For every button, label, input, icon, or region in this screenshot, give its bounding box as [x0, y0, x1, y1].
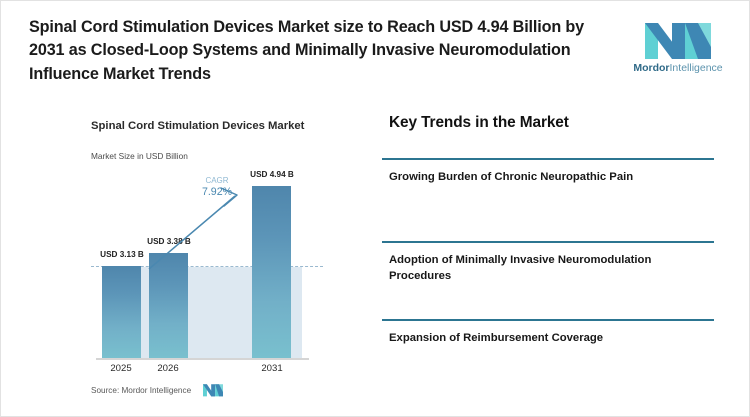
page-title: Spinal Cord Stimulation Devices Market s…: [29, 16, 604, 86]
chart-title: Spinal Cord Stimulation Devices Market: [91, 119, 321, 134]
cagr-annotation: CAGR 7.92%: [189, 176, 245, 199]
key-trends-heading: Key Trends in the Market: [389, 114, 569, 132]
trend-label-2: Adoption of Minimally Invasive Neuromodu…: [389, 252, 709, 284]
chart-source-note: Source: Mordor Intelligence: [91, 386, 191, 395]
chart-panel: Spinal Cord Stimulation Devices Market M…: [1, 101, 376, 417]
x-axis-tick-2031: 2031: [246, 363, 298, 374]
bar-chart-plot-area: USD 3.13 B USD 3.38 B USD 4.94 B 2025 20…: [91, 171, 341, 361]
trend-label-1: Growing Burden of Chronic Neuropathic Pa…: [389, 169, 709, 185]
cagr-label: CAGR: [189, 176, 245, 186]
logo-wordmark: MordorIntelligence: [623, 62, 733, 74]
chart-baseline-axis: [96, 358, 309, 360]
trend-divider-3: [382, 319, 714, 321]
trend-divider-1: [382, 158, 714, 160]
x-axis-tick-2025: 2025: [95, 363, 147, 374]
bar-2025[interactable]: [102, 266, 141, 358]
bar-2031[interactable]: [252, 186, 291, 358]
mordor-m-icon-small: [203, 383, 223, 397]
trend-divider-2: [382, 241, 714, 243]
trend-label-3: Expansion of Reimbursement Coverage: [389, 330, 709, 346]
brand-logo: MordorIntelligence: [623, 17, 733, 79]
x-axis-tick-2026: 2026: [142, 363, 194, 374]
logo-word-mordor: Mordor: [633, 62, 669, 74]
chart-subtitle: Market Size in USD Billion: [91, 151, 321, 161]
cagr-value: 7.92%: [189, 186, 245, 199]
header: Spinal Cord Stimulation Devices Market s…: [1, 1, 750, 93]
report-infographic-page: Spinal Cord Stimulation Devices Market s…: [0, 0, 750, 417]
mordor-m-icon: [645, 17, 711, 59]
key-trends-panel: Key Trends in the Market Growing Burden …: [376, 101, 750, 417]
logo-word-intelligence: Intelligence: [670, 62, 723, 74]
